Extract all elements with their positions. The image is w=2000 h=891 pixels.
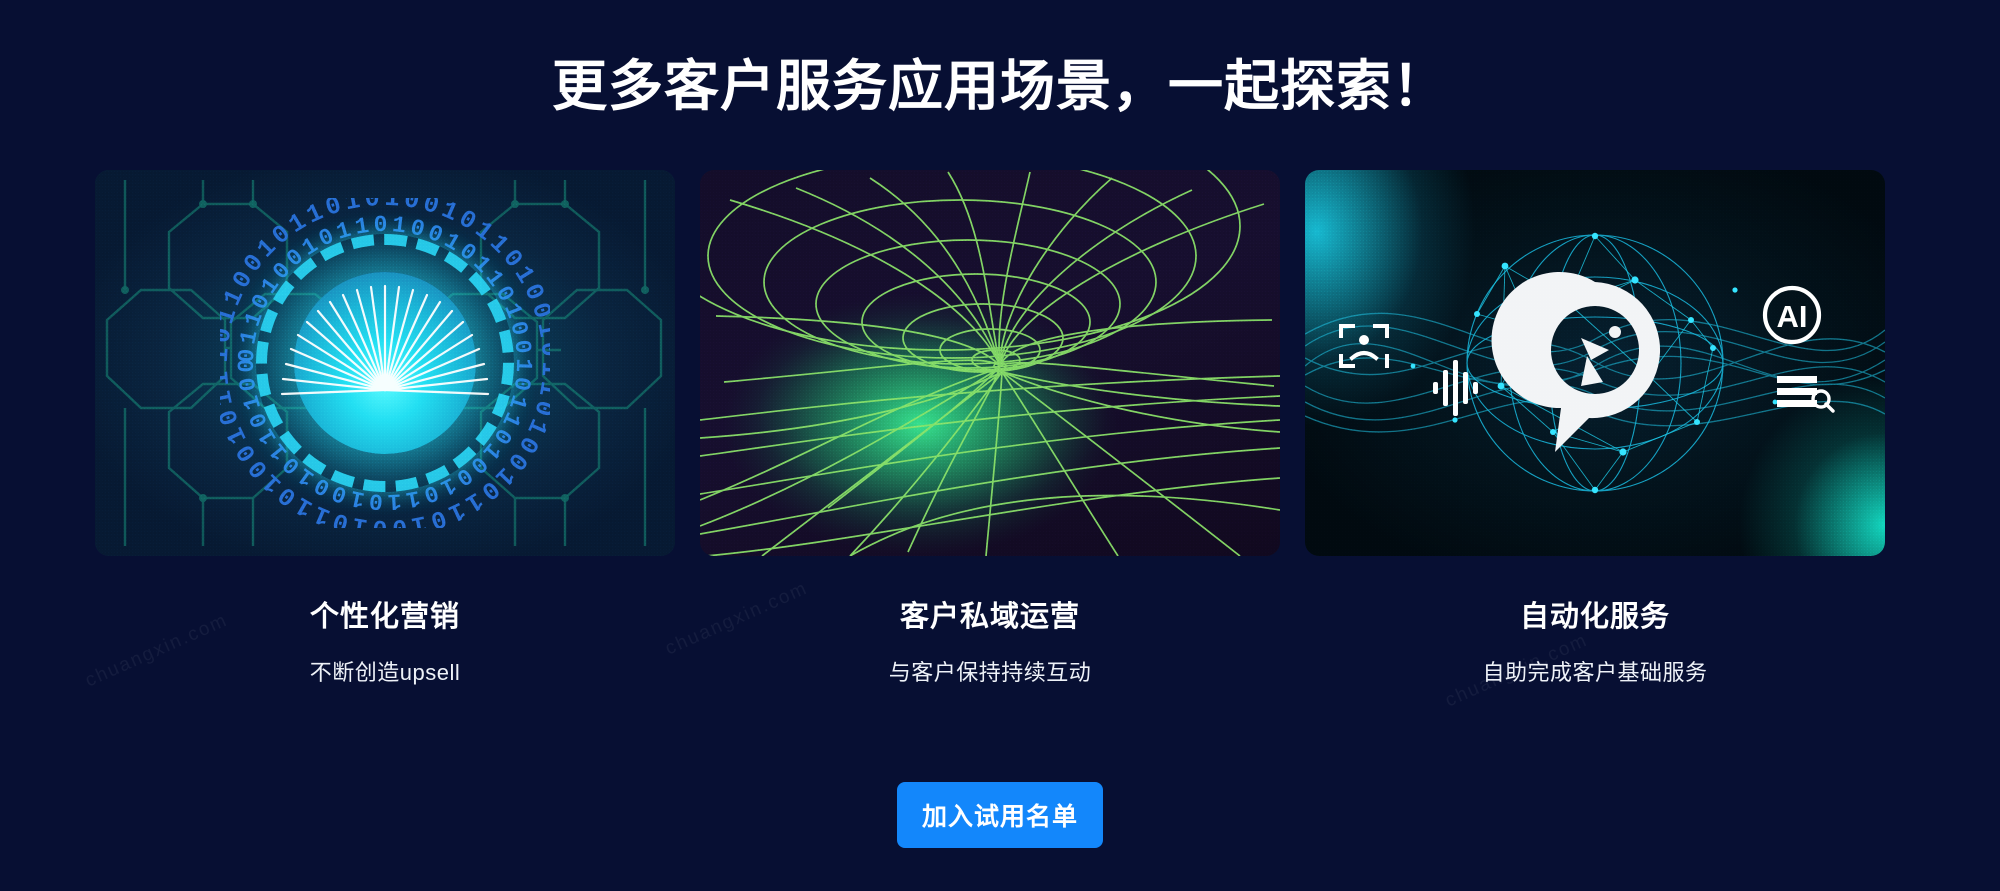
card-image-automated-service: AI [1305, 170, 1885, 556]
core-assembly: 1011001011010100101101001011010010110100… [220, 198, 550, 528]
chat-avatar-mark [1492, 272, 1661, 452]
ai-badge-icon: AI [1765, 288, 1819, 342]
card-title: 自动化服务 [1520, 600, 1670, 634]
card-title: 客户私域运营 [900, 600, 1080, 634]
network-globe-icon: AI [1305, 170, 1885, 556]
scenario-card-automated-service[interactable]: AI [1305, 170, 1885, 686]
scenario-card-personalized-marketing[interactable]: 1011001011010100101101001011010010110100… [95, 170, 675, 686]
card-image-personalized-marketing: 1011001011010100101101001011010010110100… [95, 170, 675, 556]
card-subtitle: 不断创造upsell [310, 660, 460, 686]
svg-text:AI: AI [1777, 299, 1808, 334]
radiating-rays-icon [220, 198, 550, 528]
cta-row: 加入试用名单 [0, 782, 2000, 848]
scenario-card-private-domain[interactable]: 客户私域运营 与客户保持持续互动 [700, 170, 1280, 686]
join-trial-button[interactable]: 加入试用名单 [897, 782, 1103, 848]
data-core-illustration: 1011001011010100101101001011010010110100… [95, 170, 675, 556]
landing-section: chuangxin.com chuangxin.com chuangxin.co… [0, 0, 2000, 891]
card-row: 1011001011010100101101001011010010110100… [95, 170, 1885, 686]
ai-network-illustration: AI [1305, 170, 1885, 556]
card-image-private-domain [700, 170, 1280, 556]
page-title: 更多客户服务应用场景，一起探索！ [0, 49, 2000, 123]
card-subtitle: 与客户保持持续互动 [889, 660, 1092, 686]
card-title: 个性化营销 [310, 600, 460, 634]
audio-waveform-icon [1433, 360, 1478, 416]
card-subtitle: 自助完成客户基础服务 [1482, 660, 1707, 686]
vortex-grid-icon [700, 170, 1280, 556]
wireframe-vortex-illustration [700, 170, 1280, 556]
